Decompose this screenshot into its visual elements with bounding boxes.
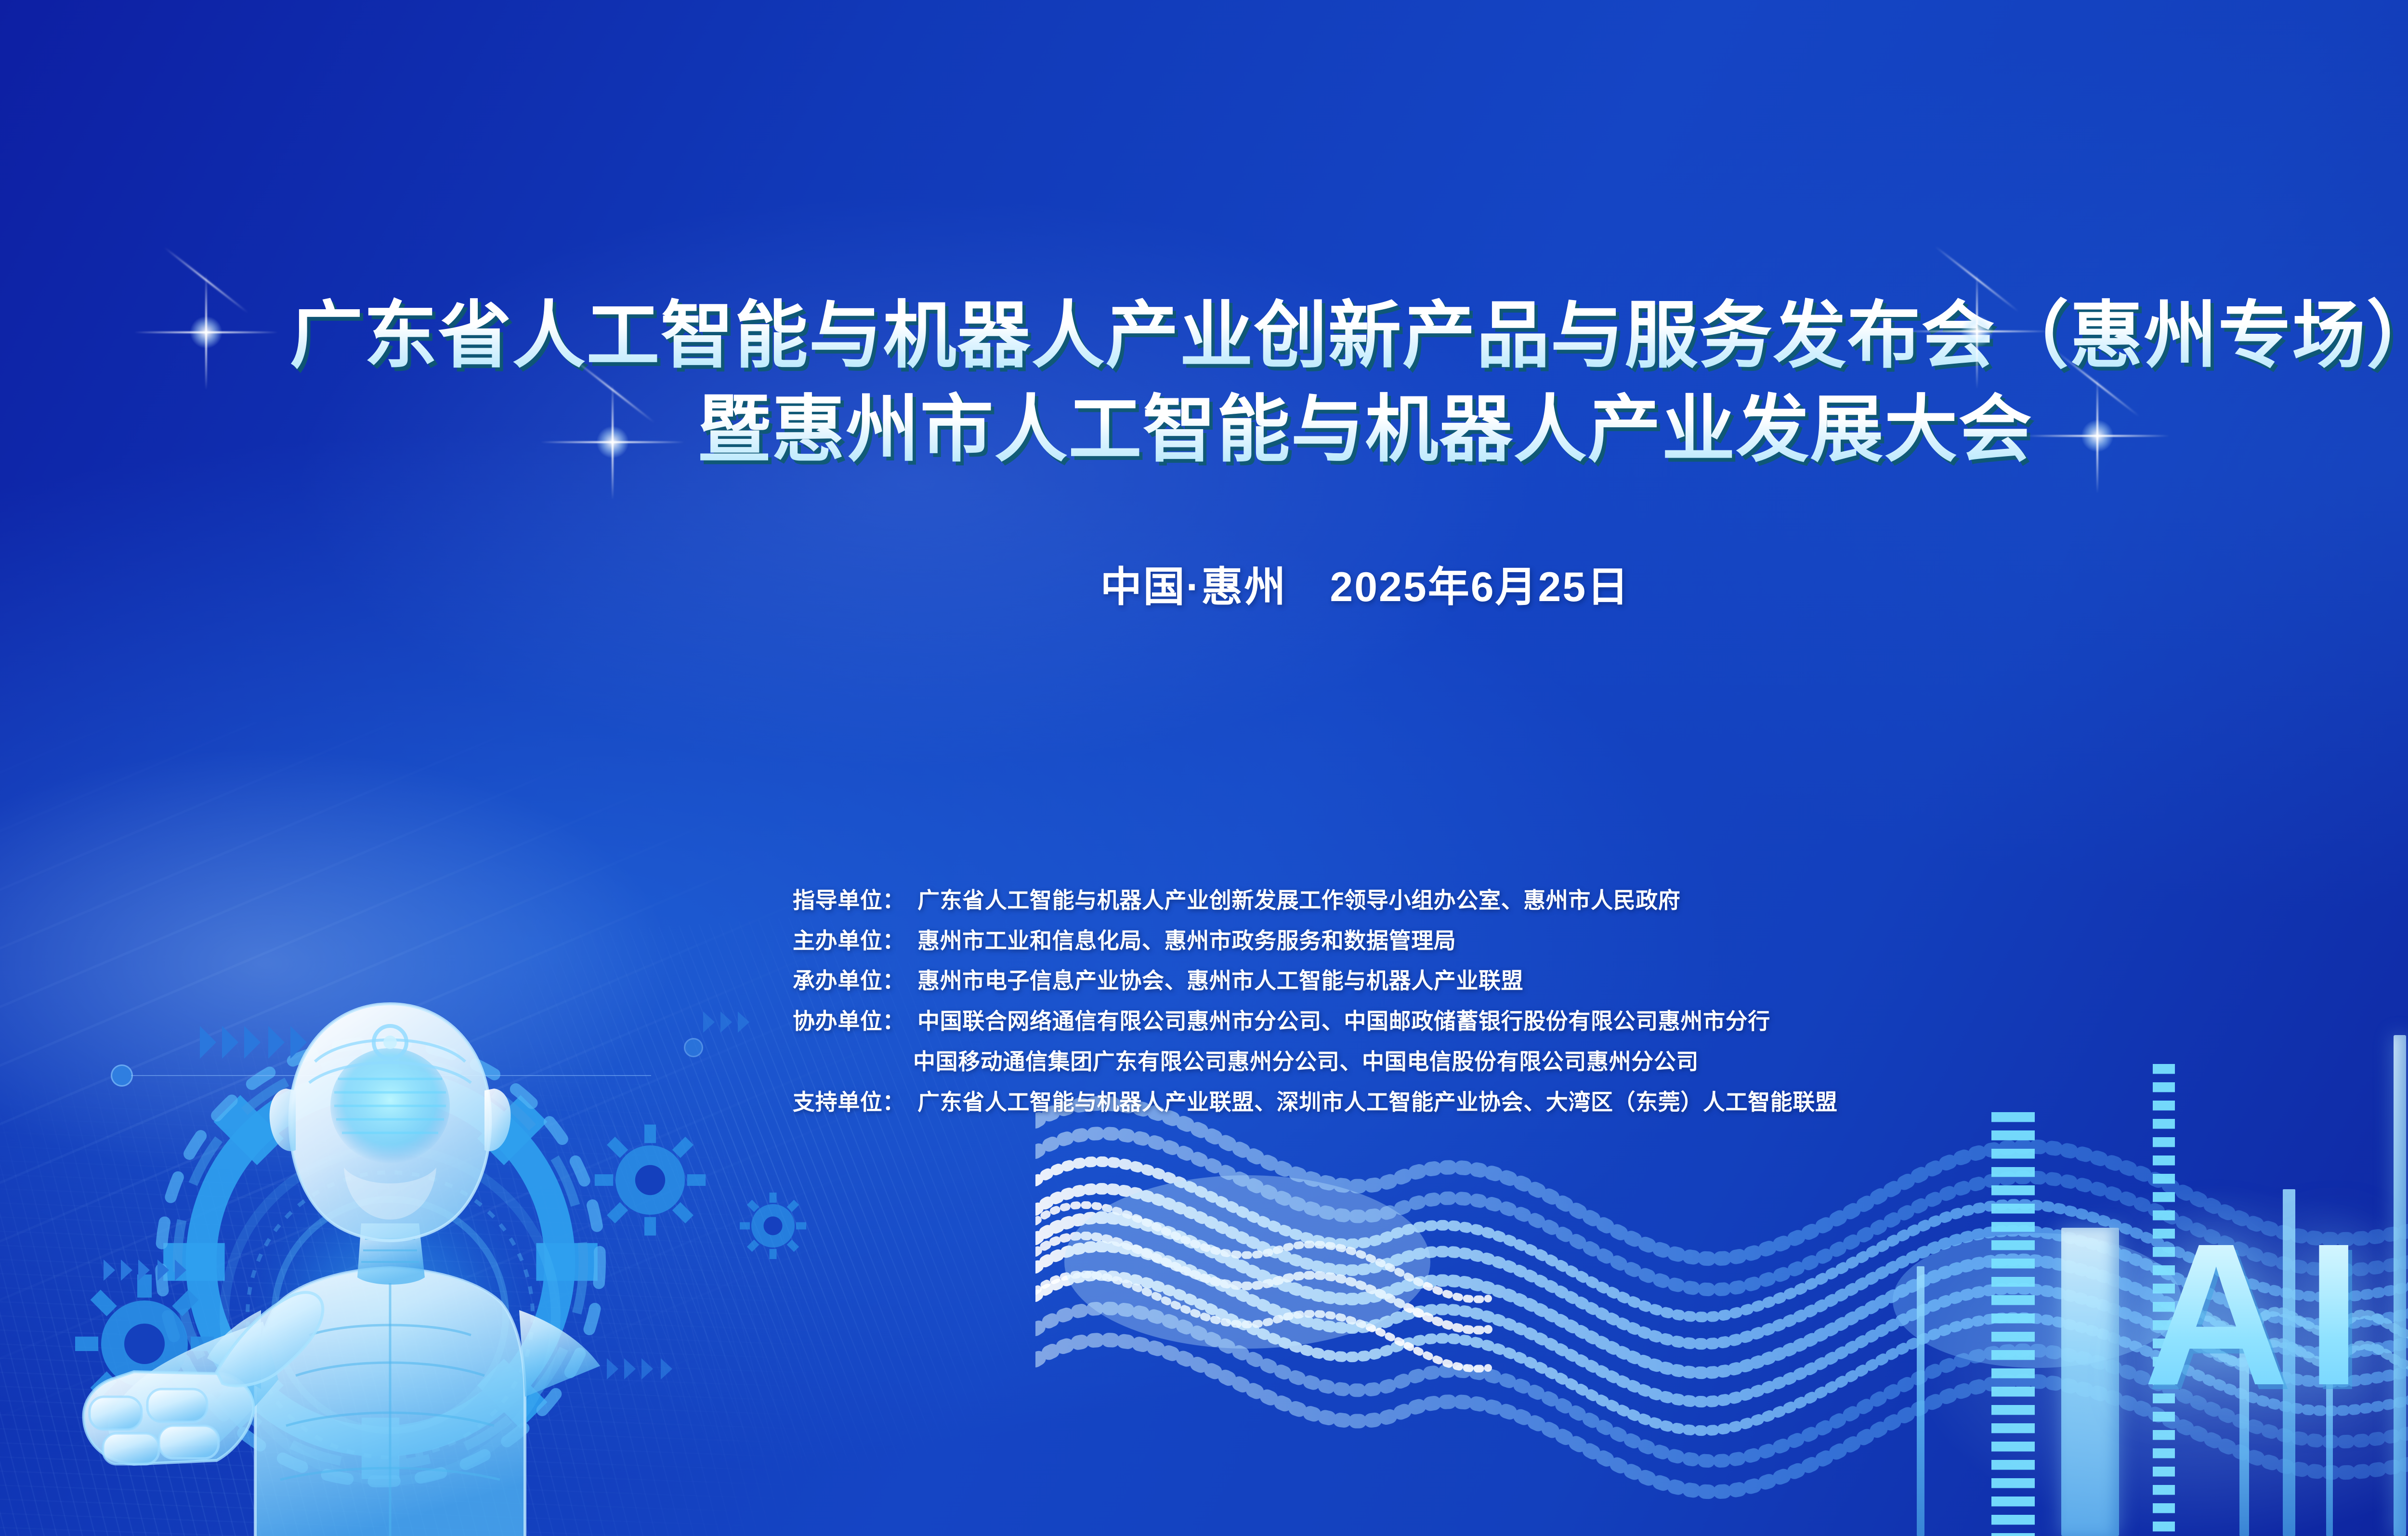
organizer-label: 指导单位：	[793, 880, 905, 921]
organizer-value: 惠州市工业和信息化局、惠州市政务服务和数据管理局	[917, 921, 1456, 961]
organizer-value: 惠州市电子信息产业协会、惠州市人工智能与机器人产业联盟	[917, 961, 1523, 1001]
diagonal-streaks	[0, 722, 1156, 1536]
banner-canvas: AI 广东省人工智能与机器人产业创新产品与服务发布会（惠州专场） 暨惠州市人工智…	[0, 0, 2408, 1536]
chevron-arrows-right-icon	[200, 1026, 313, 1059]
organizer-row: 主办单位： 惠州市工业和信息化局、惠州市政务服务和数据管理局	[793, 921, 2408, 961]
ai-glow	[1902, 1180, 2408, 1536]
gear-icon	[737, 1190, 809, 1262]
organizer-row: 承办单位： 惠州市电子信息产业协会、惠州市人工智能与机器人产业联盟	[793, 961, 2408, 1001]
ai-logo: AI	[2143, 1214, 2378, 1416]
organizer-row: 指导单位： 广东省人工智能与机器人产业创新发展工作领导小组办公室、惠州市人民政府	[793, 880, 2408, 921]
chevron-arrows-right-icon	[607, 1358, 678, 1379]
background-decoration: AI	[0, 0, 2408, 1536]
gear-icon	[592, 1122, 708, 1238]
organizer-row: 协办单位： 中国联合网络通信有限公司惠州市分公司、中国邮政储蓄银行股份有限公司惠…	[793, 1001, 2408, 1042]
organizer-list: 指导单位： 广东省人工智能与机器人产业创新发展工作领导小组办公室、惠州市人民政府…	[793, 880, 2408, 1122]
connector-node	[684, 1038, 703, 1057]
humanoid-robot-graphic	[72, 944, 684, 1536]
connector-line	[131, 1075, 651, 1076]
organizer-value: 广东省人工智能与机器人产业创新发展工作领导小组办公室、惠州市人民政府	[917, 880, 1680, 921]
title-line-2: 暨惠州市人工智能与机器人产业发展大会	[0, 383, 2408, 477]
dotted-sound-wave	[1035, 1050, 2408, 1536]
connector-node	[111, 1064, 133, 1087]
organizer-label: 协办单位：	[793, 1001, 905, 1042]
gear-ring-icon	[144, 1026, 616, 1498]
subtitle: 中国·惠州 2025年6月25日	[0, 553, 2408, 613]
organizer-value: 中国移动通信集团广东有限公司惠州分公司、中国电信股份有限公司惠州分公司	[913, 1042, 1699, 1082]
chevron-arrows-right-icon	[703, 1011, 755, 1033]
chevron-arrows-right-icon	[104, 1260, 192, 1281]
organizer-value: 广东省人工智能与机器人产业联盟、深圳市人工智能产业协会、大湾区（东莞）人工智能联…	[917, 1082, 1838, 1123]
gear-icon	[72, 1272, 217, 1416]
organizer-row: 支持单位： 广东省人工智能与机器人产业联盟、深圳市人工智能产业协会、大湾区（东莞…	[793, 1082, 2408, 1123]
bottom-left-glow	[0, 747, 674, 1180]
title-block: 广东省人工智能与机器人产业创新产品与服务发布会（惠州专场） 暨惠州市人工智能与机…	[0, 289, 2408, 476]
organizer-label: 主办单位：	[793, 921, 905, 961]
organizer-row-continuation: 中国移动通信集团广东有限公司惠州分公司、中国电信股份有限公司惠州分公司	[793, 1042, 2408, 1082]
organizer-value: 中国联合网络通信有限公司惠州市分公司、中国邮政储蓄银行股份有限公司惠州市分行	[917, 1001, 1770, 1042]
center-glow	[289, 193, 1541, 771]
organizer-label: 承办单位：	[793, 961, 905, 1001]
organizer-label: 支持单位：	[793, 1082, 905, 1123]
title-line-1: 广东省人工智能与机器人产业创新产品与服务发布会（惠州专场）	[0, 289, 2408, 383]
